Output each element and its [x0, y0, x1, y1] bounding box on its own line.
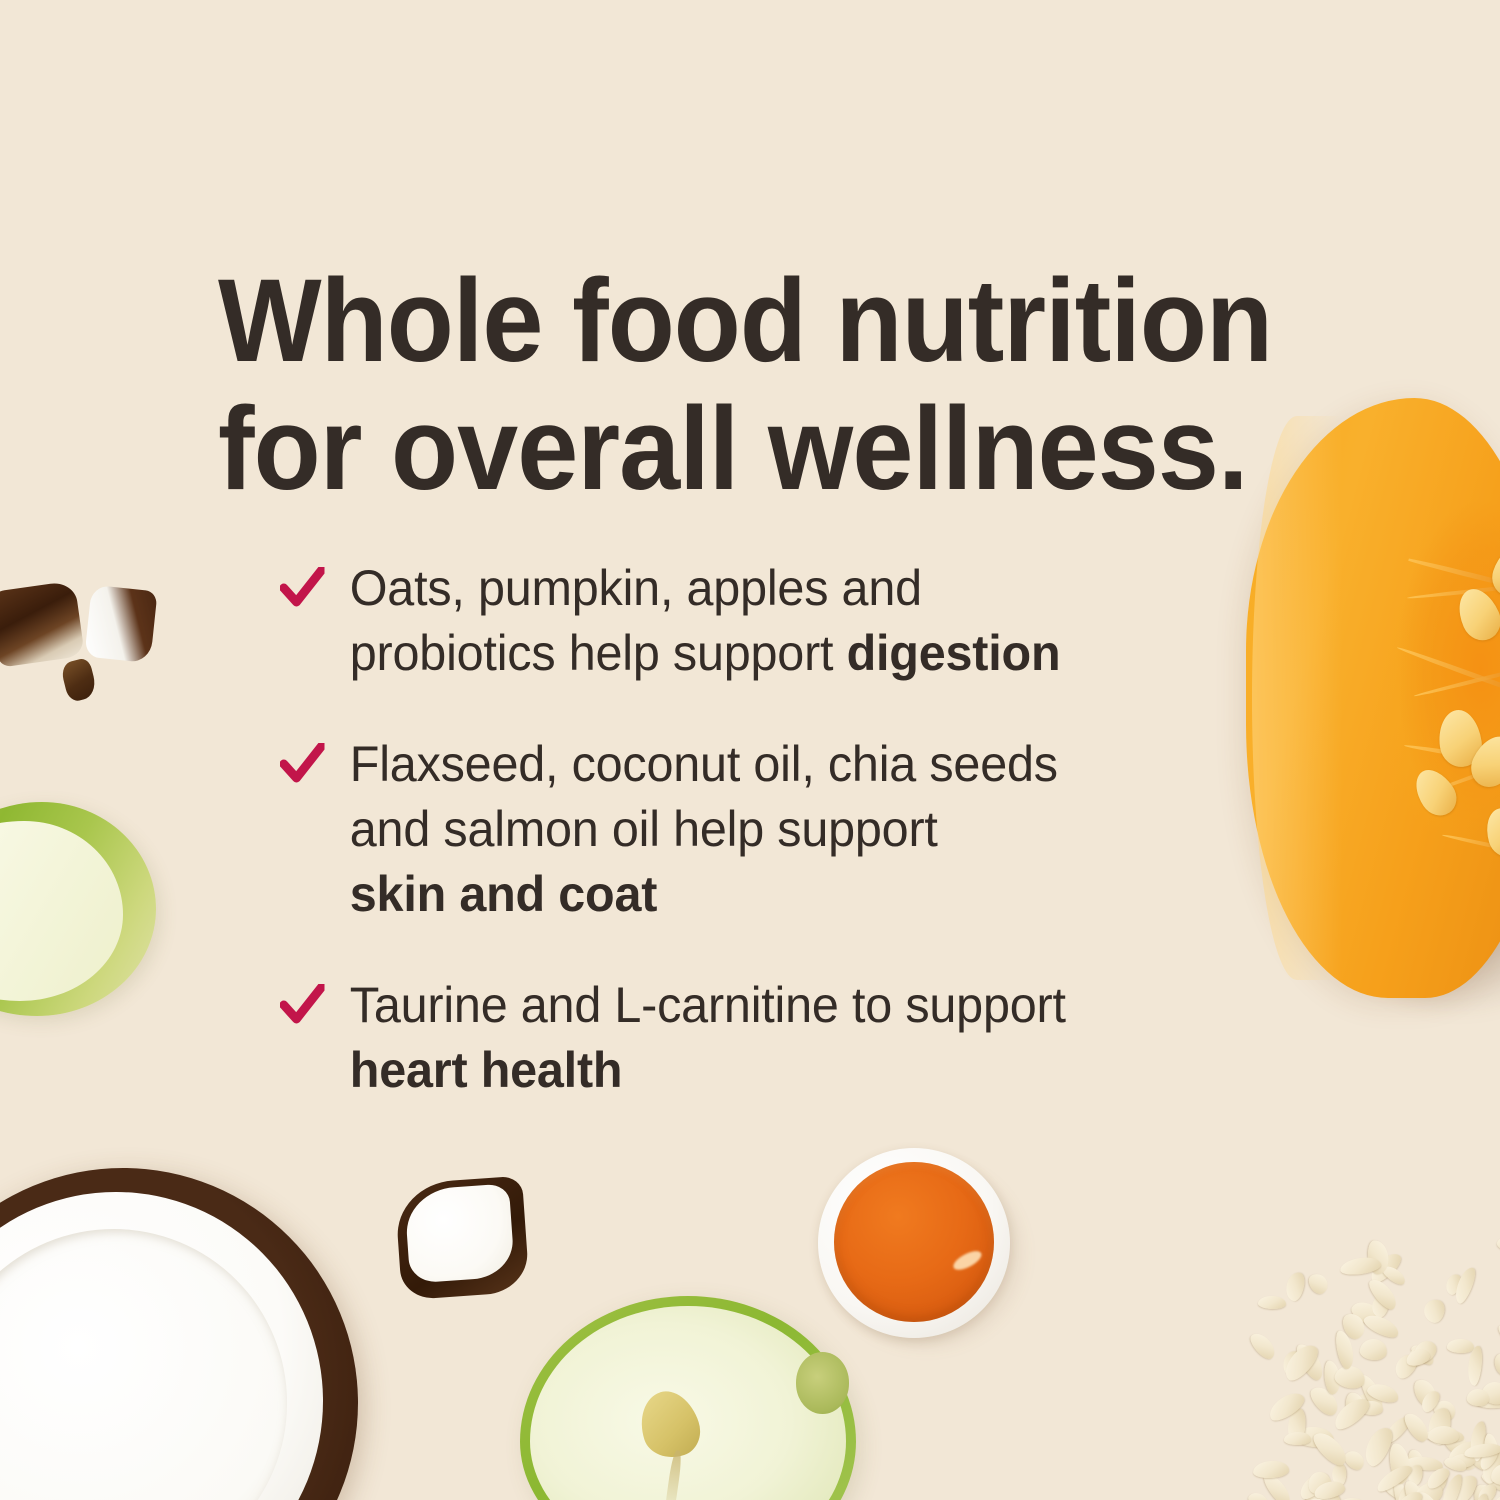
oat-flake — [1247, 1330, 1279, 1363]
check-icon — [280, 981, 325, 1027]
salmon-oil-bowl-image — [818, 1148, 1010, 1338]
benefit-text: Flaxseed, coconut oil, chia seedsand sal… — [350, 732, 1209, 927]
apple-slice-image — [0, 802, 156, 1016]
oat-flake — [1283, 1271, 1307, 1303]
list-item: Taurine and L-carnitine to supportheart … — [278, 973, 1209, 1103]
check-icon — [280, 564, 325, 610]
coconut-half-image — [0, 1168, 358, 1500]
headline-line-2: for overall wellness. — [218, 385, 1260, 513]
oat-flake — [1284, 1432, 1311, 1445]
check-icon — [280, 740, 325, 786]
oat-flake — [1422, 1298, 1448, 1325]
oat-flake — [1359, 1337, 1388, 1361]
headline-line-1: Whole food nutrition — [218, 257, 1260, 385]
oat-flake — [1258, 1295, 1286, 1309]
product-benefits-banner: Whole food nutrition for overall wellnes… — [0, 0, 1500, 1500]
coconut-chunk-image — [0, 580, 85, 667]
list-item: Flaxseed, coconut oil, chia seedsand sal… — [278, 732, 1209, 927]
oat-flake — [1495, 1234, 1500, 1255]
apple-half-notch — [796, 1352, 850, 1414]
list-item: Oats, pumpkin, apples andprobiotics help… — [278, 556, 1209, 686]
benefit-text: Oats, pumpkin, apples andprobiotics help… — [350, 556, 1209, 686]
pumpkin-rim — [1252, 416, 1342, 980]
benefits-list: Oats, pumpkin, apples andprobiotics help… — [278, 556, 1238, 1103]
oat-flake — [1447, 1338, 1474, 1353]
apple-half-image — [520, 1296, 856, 1500]
oat-flake — [1246, 1489, 1271, 1500]
coconut-chunk-image — [398, 1180, 526, 1296]
oat-flake — [1496, 1320, 1500, 1348]
bowl-oil — [834, 1162, 993, 1322]
pumpkin-half-image — [1246, 398, 1500, 998]
oat-flake — [1252, 1460, 1288, 1479]
rolled-oats-image — [1104, 1138, 1500, 1500]
benefit-text: Taurine and L-carnitine to supportheart … — [350, 973, 1209, 1103]
coconut-chunk-image — [84, 585, 157, 664]
oat-flake — [1306, 1270, 1332, 1297]
page-title: Whole food nutrition for overall wellnes… — [218, 257, 1260, 513]
coconut-chunk-image — [60, 657, 99, 703]
oat-flake — [1493, 1350, 1500, 1378]
